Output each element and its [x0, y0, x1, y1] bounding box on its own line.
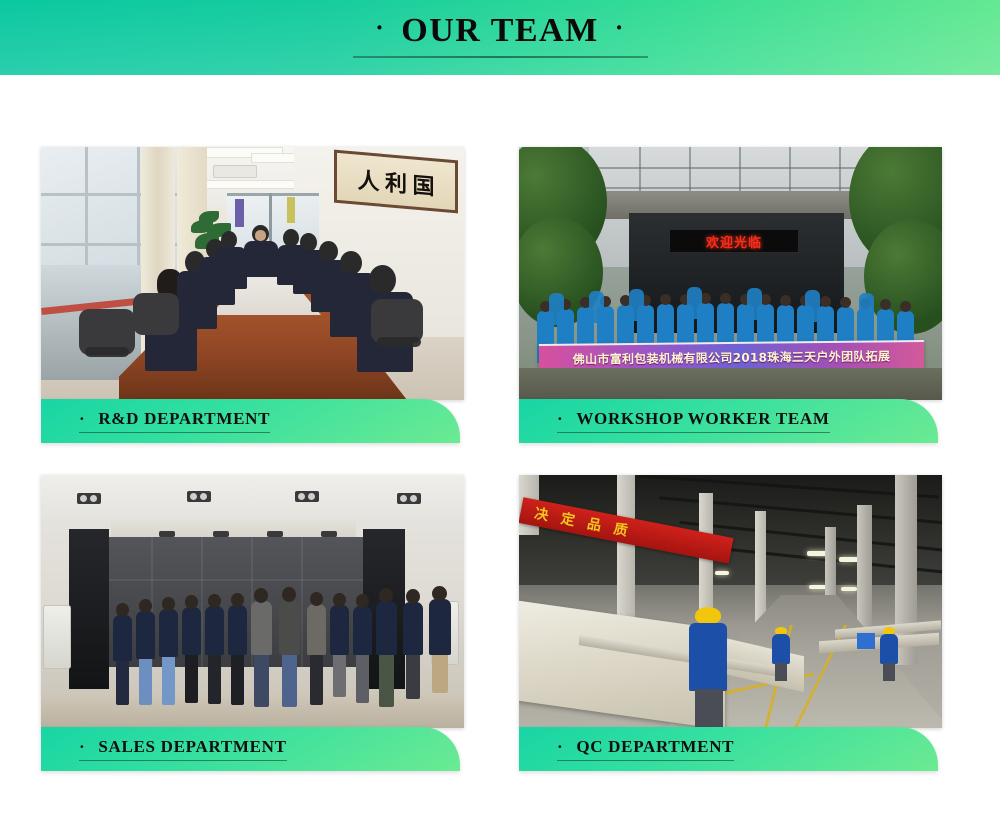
person-head [254, 588, 268, 603]
label-qc-text: QC DEPARTMENT [576, 737, 734, 756]
ceiling-light [295, 491, 319, 502]
worker [589, 291, 604, 323]
person-face [255, 230, 266, 241]
label-underline [557, 432, 830, 433]
label-qc-department: · QC DEPARTMENT [557, 738, 734, 755]
blue-sign [857, 633, 875, 649]
label-sales-department: · SALES DEPARTMENT [79, 738, 287, 755]
person [136, 611, 155, 659]
person-legs [231, 655, 244, 705]
label-bullet-icon: · [79, 409, 85, 428]
team-card-workshop-worker-team[interactable]: 欢迎光临 [519, 147, 942, 443]
person-legs [406, 655, 420, 699]
label-bar-rd-department[interactable]: · R&D DEPARTMENT [41, 399, 460, 443]
person [113, 615, 132, 661]
calligraphy-frame: 人 利 国 [334, 150, 458, 214]
label-bullet-icon: · [557, 409, 563, 428]
photo-workshop-worker-team: 欢迎光临 [519, 147, 942, 400]
calligraphy-text: 人 利 国 [341, 157, 451, 206]
label-bar-sales-department[interactable]: · SALES DEPARTMENT [41, 727, 460, 771]
person-head [319, 241, 338, 262]
page-title: · OUR TEAM · [375, 14, 625, 48]
person-head [406, 589, 420, 604]
person-legs [432, 655, 448, 693]
panel-divider [103, 579, 368, 581]
worker-head [840, 297, 851, 308]
facade-grid-line [689, 147, 691, 197]
person-head [185, 595, 198, 609]
worker-head [780, 295, 791, 306]
panel-divider [201, 537, 203, 667]
panel-divider [301, 537, 303, 667]
worker [629, 289, 644, 321]
header-inner: · OUR TEAM · [0, 0, 1000, 75]
person-legs [282, 655, 297, 707]
ceiling-light [397, 493, 421, 504]
person-legs [379, 655, 394, 707]
worker-head [900, 301, 911, 312]
photo-rd-department: 人 利 国 [41, 147, 464, 400]
page-title-wrap: · OUR TEAM · [353, 14, 648, 58]
worker [859, 293, 874, 325]
team-grid: 人 利 国 [0, 75, 1000, 824]
label-bar-qc-department[interactable]: · QC DEPARTMENT [519, 727, 938, 771]
worker [880, 634, 898, 664]
label-text-wrap: · R&D DEPARTMENT [79, 410, 270, 433]
worker-head [880, 299, 891, 310]
label-rd-text: R&D DEPARTMENT [98, 409, 270, 428]
person [376, 601, 397, 655]
worker [805, 290, 820, 322]
person-head [231, 593, 244, 607]
chair-seat [85, 347, 129, 357]
label-underline [79, 760, 287, 761]
person-head [340, 251, 362, 275]
person-head [379, 588, 393, 603]
label-workshop-worker-team: · WORKSHOP WORKER TEAM [557, 410, 830, 427]
photo-sales-department [41, 475, 464, 728]
facade-grid-line [839, 147, 841, 197]
person-legs [139, 659, 152, 705]
worker [747, 288, 762, 320]
person-head [432, 586, 447, 601]
person-legs [333, 655, 346, 697]
led-sign-upper [679, 193, 789, 207]
team-card-qc-department[interactable]: 决 定 品 质 · [519, 475, 942, 771]
led-sign: 欢迎光临 [669, 229, 799, 253]
person [205, 606, 224, 655]
ceiling-lamp [841, 587, 857, 591]
person-head [333, 593, 346, 607]
header-banner: · OUR TEAM · [0, 0, 1000, 75]
label-sales-text: SALES DEPARTMENT [98, 737, 286, 756]
title-left-dot-icon: · [375, 15, 385, 41]
worker-head [720, 293, 731, 304]
worker [549, 293, 564, 325]
person-body [244, 241, 278, 277]
photo-qc-department: 决 定 品 质 [519, 475, 942, 728]
worker-legs [883, 663, 895, 681]
person-body [215, 247, 247, 289]
label-underline [79, 432, 270, 433]
person-head [162, 597, 175, 611]
team-card-sales-department[interactable]: · SALES DEPARTMENT [41, 475, 464, 771]
person-legs [254, 655, 269, 707]
chair-seat [377, 337, 421, 347]
label-text-wrap: · QC DEPARTMENT [557, 738, 734, 761]
person-head [116, 603, 129, 617]
label-underline [557, 760, 734, 761]
ceiling-lamp [715, 571, 729, 575]
person-legs [116, 661, 129, 705]
worker [772, 634, 790, 664]
person [330, 605, 349, 655]
label-bar-workshop-worker-team[interactable]: · WORKSHOP WORKER TEAM [519, 399, 938, 443]
worker-head [820, 296, 831, 307]
label-bullet-icon: · [557, 737, 563, 756]
structural-column [617, 475, 635, 635]
label-text-wrap: · SALES DEPARTMENT [79, 738, 287, 761]
ceiling-panel [191, 180, 303, 189]
person [251, 601, 272, 655]
team-banner-text: 佛山市富利包装机械有限公司2018珠海三天户外团队拓展 [573, 347, 891, 367]
person-head [208, 594, 221, 608]
person [307, 604, 326, 655]
window-mullion [227, 193, 319, 196]
glass-door-left [69, 529, 109, 689]
label-rd-department: · R&D DEPARTMENT [79, 410, 270, 427]
ceiling-light [77, 493, 101, 504]
person [429, 599, 451, 655]
team-card-rd-department[interactable]: 人 利 国 [41, 147, 464, 443]
person [403, 602, 423, 655]
person [159, 609, 178, 657]
person-head [282, 587, 296, 602]
window-shade [287, 197, 295, 223]
person-legs [162, 657, 175, 705]
chair [133, 293, 179, 335]
person-legs [310, 655, 323, 705]
worker-head [660, 294, 671, 305]
air-conditioner [43, 605, 71, 669]
person [353, 606, 372, 655]
page-title-text: OUR TEAM [401, 14, 598, 48]
hard-hat-icon [695, 607, 721, 624]
facade-grid-line [789, 147, 791, 197]
label-bullet-icon: · [79, 737, 85, 756]
led-sign-text: 欢迎光临 [706, 232, 762, 251]
person-legs [356, 655, 369, 703]
qc-worker-legs [695, 689, 723, 727]
person-legs [208, 655, 221, 704]
person-head [356, 594, 369, 608]
worker-legs [775, 663, 787, 681]
person [228, 605, 247, 655]
worker [687, 287, 702, 319]
ceiling-vent [213, 165, 257, 178]
person-head [369, 265, 396, 295]
person-head [139, 599, 152, 613]
label-workshop-text: WORKSHOP WORKER TEAM [576, 409, 829, 428]
ceiling-light [187, 491, 211, 502]
facade-grid-line [639, 147, 641, 197]
title-underline [353, 56, 648, 58]
facade-grid-line [739, 147, 741, 197]
floor [41, 694, 464, 728]
person-legs [185, 655, 198, 703]
title-right-dot-icon: · [615, 15, 625, 41]
ground [519, 368, 942, 400]
ceiling-lamp [839, 557, 859, 562]
qc-worker [689, 623, 727, 691]
person-head [310, 592, 323, 606]
person [279, 600, 300, 655]
label-text-wrap: · WORKSHOP WORKER TEAM [557, 410, 830, 433]
person [182, 607, 201, 655]
